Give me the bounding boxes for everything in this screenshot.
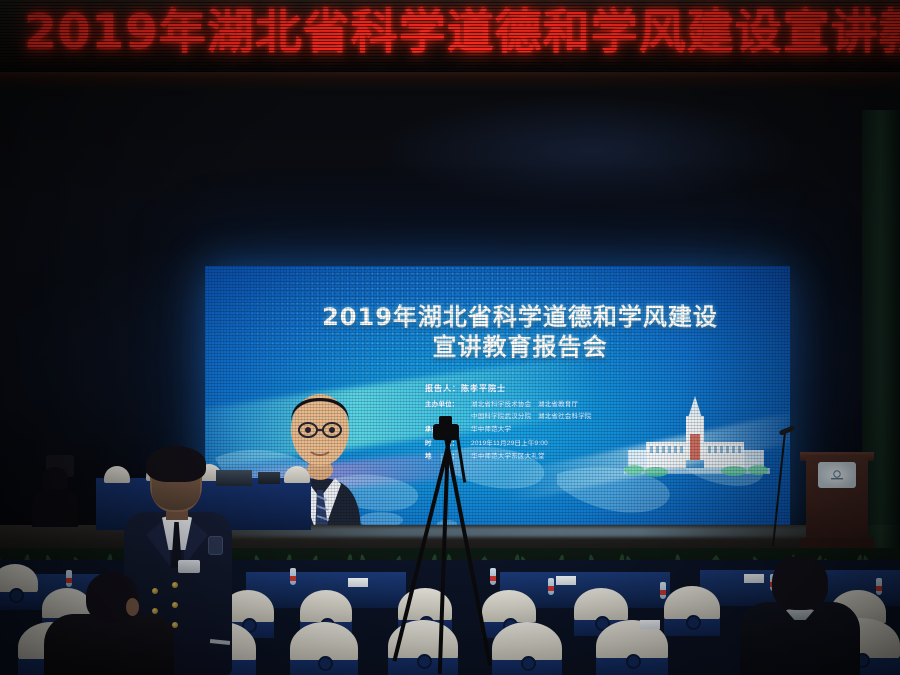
led-banner-text: 2019年湖北省科学道德和学风建设宣讲教育报 [24,3,900,63]
water-bottle [660,582,666,599]
place-value: 华中师范大学东区大礼堂 [471,452,675,463]
host-line2: 中国科学院武汉分院 湖北省社会科学院 [471,412,675,423]
name-card [640,620,660,629]
seated-attendee-right [740,556,860,675]
time-value: 2019年11月29日上午9:00 [471,439,675,450]
screen-title-line2: 宣讲教育报告会 [260,332,780,362]
university-emblem-icon [829,470,845,481]
attendee-ear [126,598,139,616]
operator-body [32,489,78,527]
name-card [348,578,368,587]
usher-name-badge [178,560,200,573]
ceiling-glow [380,95,800,205]
water-bottle [876,578,882,595]
name-card [556,576,576,585]
screen-organizer-row: 承办单位： 华中师范大学 [425,425,675,436]
podium-base [800,538,874,548]
led-banner: 2019年湖北省科学道德和学风建设宣讲教育报 [0,0,900,72]
covered-chair [290,622,358,675]
attendee-body [44,614,174,675]
covered-chair [664,586,720,636]
conference-hall-photo: 2019年湖北省科学道德和学风建设 宣讲教育报告会 报告人：陈孝平院士 主办单位… [0,0,900,675]
podium-plaque [818,462,856,488]
camera-operator [28,455,80,527]
screen-title: 2019年湖北省科学道德和学风建设 宣讲教育报告会 [260,302,780,362]
screen-host-row: 主办单位： 湖北省科学技术协会 湖北省教育厅 [425,400,675,411]
screen-speaker-line: 报告人：陈孝平院士 [425,384,675,395]
covered-chair [492,622,562,675]
speaker-name: 陈孝平院士 [461,384,506,393]
host-label: 主办单位： [425,400,471,411]
organizer-value: 华中师范大学 [471,425,675,436]
screen-detail-block: 报告人：陈孝平院士 主办单位： 湖北省科学技术协会 湖北省教育厅 中国科学院武汉… [425,384,675,464]
attendee-head [772,556,828,610]
water-bottle [290,568,296,585]
laptop-icon [258,472,280,484]
speaker-label: 报告人： [425,384,461,393]
seated-attendee-left [44,572,174,675]
water-bottle [548,578,554,595]
usher-hair [146,446,206,482]
shoulder-patch-icon [208,536,223,555]
water-bottle [490,568,496,585]
screen-time-row: 时 间： 2019年11月29日上午9:00 [425,439,675,450]
covered-chair [0,564,38,606]
host-line1: 湖北省科学技术协会 湖北省教育厅 [471,400,675,411]
screen-title-line1: 2019年湖北省科学道德和学风建设 [322,303,718,331]
